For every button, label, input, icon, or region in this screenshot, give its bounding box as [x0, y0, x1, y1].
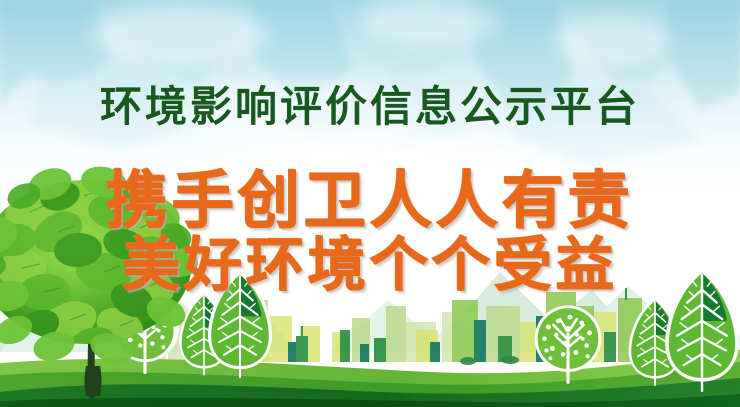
page-title: 环境影响评价信息公示平台: [0, 73, 740, 134]
eia-publicity-banner: 环境影响评价信息公示平台 携手创卫人人有责 美好环境个个受益: [0, 0, 740, 407]
slogan-line-2: 美好环境个个受益: [0, 218, 740, 302]
